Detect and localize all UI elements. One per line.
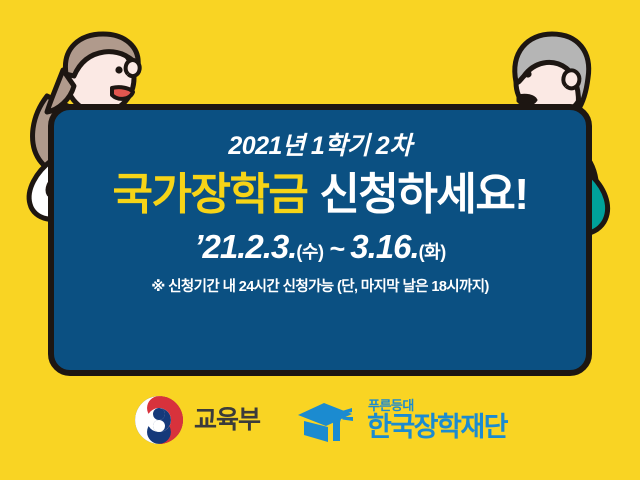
footer-logos: 교육부 푸른등대 한국장학재단 xyxy=(0,388,640,452)
period-separator: ~ xyxy=(323,236,350,263)
ministry-of-education-name: 교육부 xyxy=(194,408,260,433)
board-content: 2021년 1학기 2차 국가장학금신청하세요! ’21.2.3. (수) ~ … xyxy=(48,104,592,376)
taegeuk-emblem-icon xyxy=(133,394,185,446)
headline-highlight: 국가장학금 xyxy=(113,170,308,219)
foundation-text-block: 푸른등대 한국장학재단 xyxy=(367,399,507,441)
foundation-name: 한국장학재단 xyxy=(367,414,507,441)
application-period: ’21.2.3. (수) ~ 3.16. (화) xyxy=(194,230,445,263)
foundation-sub-name: 푸른등대 xyxy=(368,399,414,412)
scholarship-announcement-banner: 2021년 1학기 2차 국가장학금신청하세요! ’21.2.3. (수) ~ … xyxy=(0,0,640,480)
headline: 국가장학금신청하세요! xyxy=(113,173,528,217)
ministry-of-education-logo: 교육부 xyxy=(133,394,260,446)
period-start-dayofweek: (수) xyxy=(296,243,323,261)
period-end-date: 3.16. xyxy=(350,230,418,263)
eyebrow-text: 2021년 1학기 2차 xyxy=(228,134,411,159)
graduation-cap-lighthouse-icon xyxy=(296,396,358,444)
korea-student-aid-foundation-logo: 푸른등대 한국장학재단 xyxy=(296,396,507,444)
announcement-board: 2021년 1학기 2차 국가장학금신청하세요! ’21.2.3. (수) ~ … xyxy=(48,104,592,376)
period-start-date: ’21.2.3. xyxy=(194,230,296,263)
period-end-dayofweek: (화) xyxy=(419,243,446,261)
application-note: ※ 신청기간 내 24시간 신청가능 (단, 마지막 날은 18시까지) xyxy=(151,280,488,295)
headline-rest: 신청하세요! xyxy=(307,170,527,219)
